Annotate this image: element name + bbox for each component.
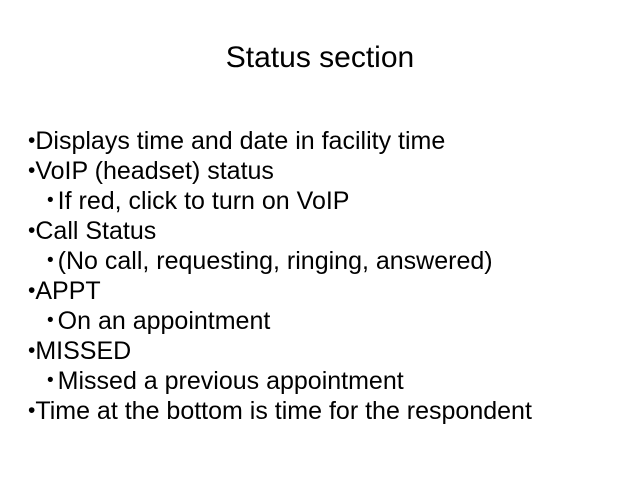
bullet-item-label: Displays time and date in facility time: [35, 127, 445, 155]
bullet-item: •Missed a previous appointment: [28, 366, 628, 396]
bullet-point-icon: •: [47, 370, 54, 391]
bullet-list: •Displays time and date in facility time…: [28, 126, 628, 426]
bullet-item-label: APPT: [35, 277, 100, 305]
bullet-item: •On an appointment: [28, 306, 628, 336]
bullet-item-label: On an appointment: [58, 307, 271, 335]
bullet-item-label: Call Status: [35, 217, 156, 245]
bullet-point-icon: •: [47, 190, 54, 211]
bullet-item: •MISSED: [28, 336, 628, 366]
bullet-point-icon: •: [47, 310, 54, 331]
bullet-item: •APPT: [28, 276, 628, 306]
bullet-item: •Displays time and date in facility time: [28, 126, 628, 156]
bullet-item: •Call Status: [28, 216, 628, 246]
bullet-item: •VoIP (headset) status: [28, 156, 628, 186]
bullet-item-label: If red, click to turn on VoIP: [58, 187, 350, 215]
presentation-slide: Status section •Displays time and date i…: [0, 0, 640, 480]
bullet-item-label: Time at the bottom is time for the respo…: [35, 397, 532, 425]
bullet-item: •If red, click to turn on VoIP: [28, 186, 628, 216]
bullet-item-label: (No call, requesting, ringing, answered): [58, 247, 493, 275]
bullet-item: •Time at the bottom is time for the resp…: [28, 396, 628, 426]
bullet-item: •(No call, requesting, ringing, answered…: [28, 246, 628, 276]
bullet-item-label: MISSED: [35, 337, 131, 365]
bullet-item-label: Missed a previous appointment: [58, 367, 404, 395]
bullet-point-icon: •: [47, 250, 54, 271]
bullet-item-label: VoIP (headset) status: [35, 157, 274, 185]
page-title: Status section: [0, 40, 640, 76]
